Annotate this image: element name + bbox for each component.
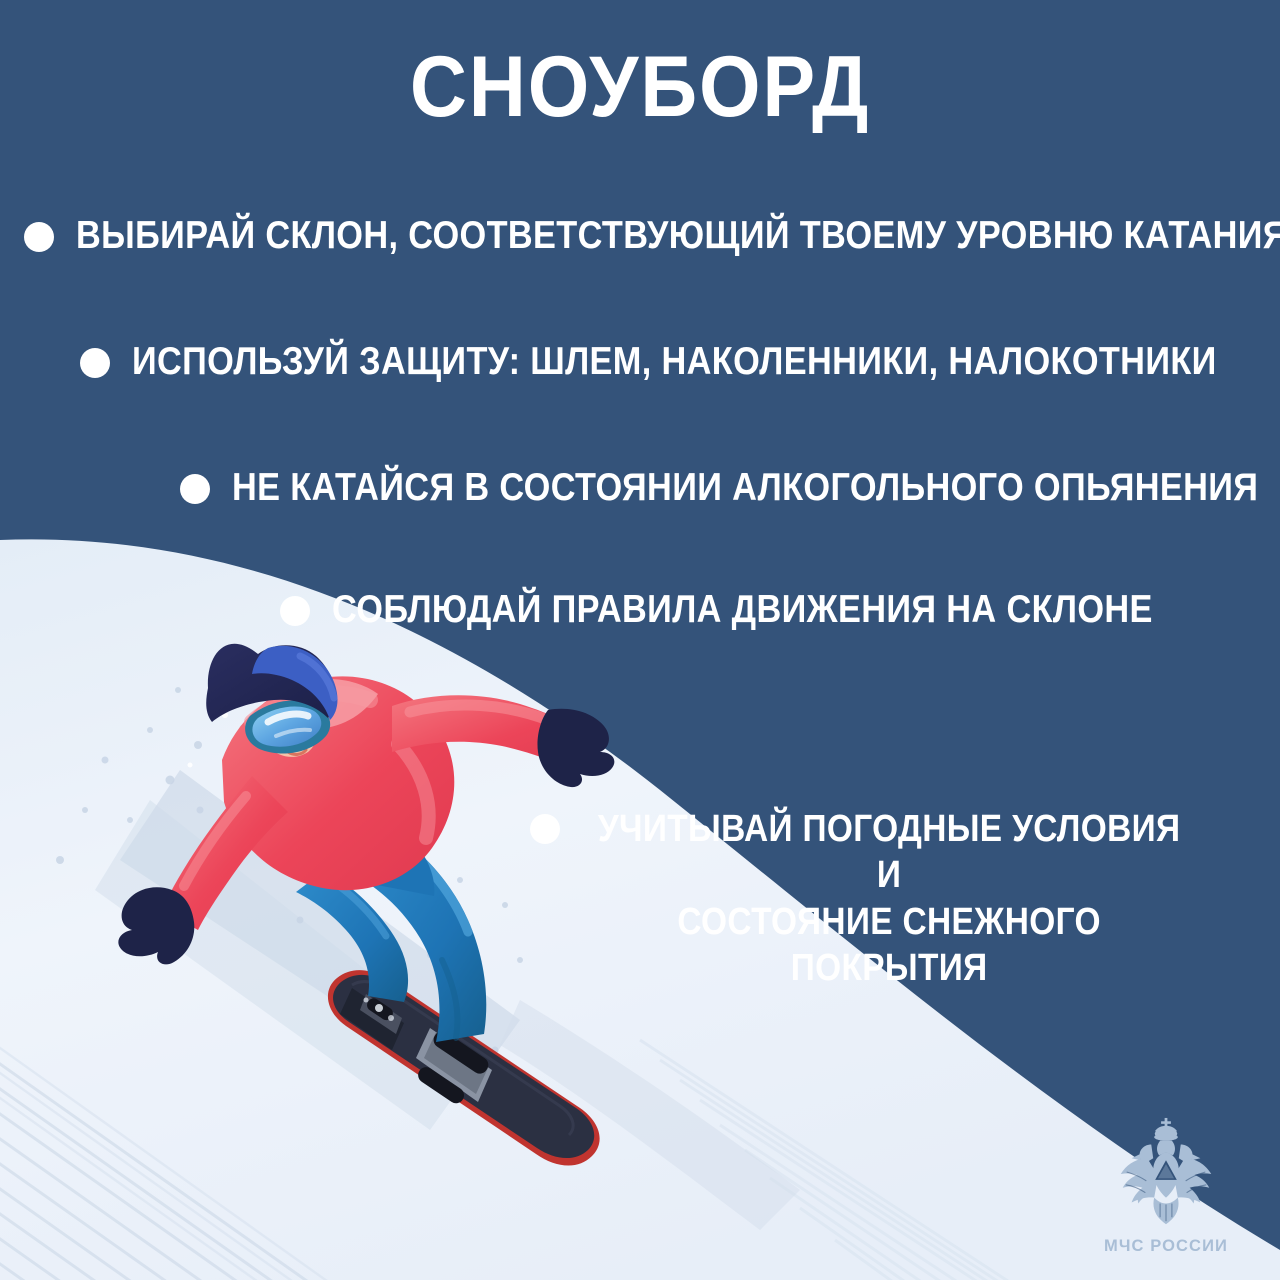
- bullet-text: ВЫБИРАЙ СКЛОН, СООТВЕТСТВУЮЩИЙ ТВОЕМУ УР…: [76, 214, 1280, 259]
- list-item: ИСПОЛЬЗУЙ ЗАЩИТУ: ШЛЕМ, НАКОЛЕННИКИ, НАЛ…: [80, 340, 1280, 385]
- bullet-text: НЕ КАТАЙСЯ В СОСТОЯНИИ АЛКОГОЛЬНОГО ОПЬЯ…: [232, 466, 1258, 511]
- list-item: ВЫБИРАЙ СКЛОН, СООТВЕТСТВУЮЩИЙ ТВОЕМУ УР…: [24, 214, 1280, 259]
- page-title: СНОУБОРД: [51, 44, 1229, 130]
- emercom-eagle-emblem: [1107, 1115, 1225, 1233]
- emercom-logo: МЧС РОССИИ: [1086, 1115, 1246, 1256]
- logo-caption: МЧС РОССИИ: [1086, 1237, 1246, 1256]
- bullet-text: СОБЛЮДАЙ ПРАВИЛА ДВИЖЕНИЯ НА СКЛОНЕ: [332, 588, 1153, 633]
- bullet-dot-icon: [24, 222, 54, 252]
- list-item: НЕ КАТАЙСЯ В СОСТОЯНИИ АЛКОГОЛЬНОГО ОПЬЯ…: [180, 466, 1280, 511]
- snowboard-safety-poster: СНОУБОРД ВЫБИРАЙ СКЛОН, СООТВЕТСТВУЮЩИЙ …: [0, 0, 1280, 1280]
- bullet-text: УЧИТЫВАЙ ПОГОДНЫЕ УСЛОВИЯ И СОСТОЯНИЕ СН…: [582, 806, 1196, 991]
- bullet-dot-icon: [530, 814, 560, 844]
- bullet-dot-icon: [180, 474, 210, 504]
- list-item: СОБЛЮДАЙ ПРАВИЛА ДВИЖЕНИЯ НА СКЛОНЕ: [280, 588, 1265, 633]
- bullet-dot-icon: [280, 596, 310, 626]
- bullet-text: ИСПОЛЬЗУЙ ЗАЩИТУ: ШЛЕМ, НАКОЛЕННИКИ, НАЛ…: [132, 340, 1217, 385]
- bullet-dot-icon: [80, 348, 110, 378]
- list-item: УЧИТЫВАЙ ПОГОДНЫЕ УСЛОВИЯ И СОСТОЯНИЕ СН…: [530, 806, 1280, 991]
